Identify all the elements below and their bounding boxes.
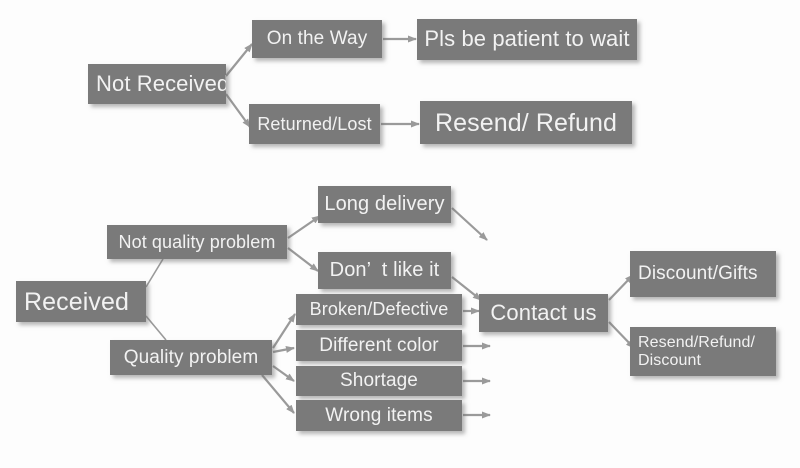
node-returned-lost[interactable]: Returned/Lost (249, 104, 380, 144)
node-label-resend-refund-disc: Resend/Refund/ Discount (638, 334, 755, 370)
node-long-delivery[interactable]: Long delivery (318, 186, 451, 223)
node-label-resend-refund: Resend/ Refund (435, 109, 617, 137)
edge-received-to-not-quality-problem (146, 259, 163, 287)
node-received[interactable]: Received (16, 281, 146, 322)
edge-long-delivery-to-contact-us (452, 208, 487, 240)
node-label-dont-like-it: Don’ t like it (330, 259, 440, 281)
node-label-different-color: Different color (319, 335, 438, 356)
node-label-returned-lost: Returned/Lost (257, 114, 371, 134)
node-wrong-items[interactable]: Wrong items (296, 400, 462, 431)
node-label-contact-us: Contact us (490, 301, 596, 326)
node-on-the-way[interactable]: On the Way (252, 20, 382, 58)
node-contact-us[interactable]: Contact us (479, 294, 608, 332)
node-discount-gifts[interactable]: Discount/Gifts (630, 251, 776, 297)
node-label-pls-be-patient: Pls be patient to wait (424, 27, 629, 52)
edge-received-to-quality-problem (146, 316, 166, 340)
edge-quality-to-broken-defective (273, 314, 295, 348)
node-label-not-quality-problem: Not quality problem (119, 232, 276, 252)
node-label-discount-gifts: Discount/Gifts (638, 263, 758, 284)
edge-not-received-to-returned-lost (226, 94, 250, 127)
edge-not-quality-to-long-delivery (288, 216, 320, 238)
edge-quality-to-shortage (273, 366, 294, 381)
edge-quality-to-wrong-items (262, 375, 294, 413)
node-broken-defective[interactable]: Broken/Defective (296, 294, 462, 325)
node-not-quality-problem[interactable]: Not quality problem (107, 225, 287, 259)
node-dont-like-it[interactable]: Don’ t like it (318, 252, 451, 289)
flowchart-canvas: Not ReceivedOn the WayPls be patient to … (0, 0, 800, 468)
edge-not-received-to-on-the-way (226, 44, 252, 76)
node-pls-be-patient[interactable]: Pls be patient to wait (417, 19, 637, 60)
node-quality-problem[interactable]: Quality problem (110, 340, 272, 375)
edge-quality-to-different-color (273, 348, 294, 352)
node-different-color[interactable]: Different color (296, 330, 462, 361)
node-label-long-delivery: Long delivery (324, 193, 444, 215)
node-label-broken-defective: Broken/Defective (310, 299, 449, 319)
node-shortage[interactable]: Shortage (296, 366, 462, 396)
node-label-quality-problem: Quality problem (124, 347, 259, 368)
node-label-received: Received (24, 288, 129, 316)
node-label-not-received: Not Received (96, 72, 226, 97)
node-not-received[interactable]: Not Received (88, 64, 226, 104)
node-label-wrong-items: Wrong items (325, 405, 432, 426)
node-label-on-the-way: On the Way (267, 28, 368, 49)
node-resend-refund[interactable]: Resend/ Refund (420, 101, 632, 144)
node-resend-refund-disc[interactable]: Resend/Refund/ Discount (630, 327, 776, 376)
node-label-shortage: Shortage (340, 370, 418, 391)
edge-not-quality-to-dont-like-it (288, 248, 318, 271)
